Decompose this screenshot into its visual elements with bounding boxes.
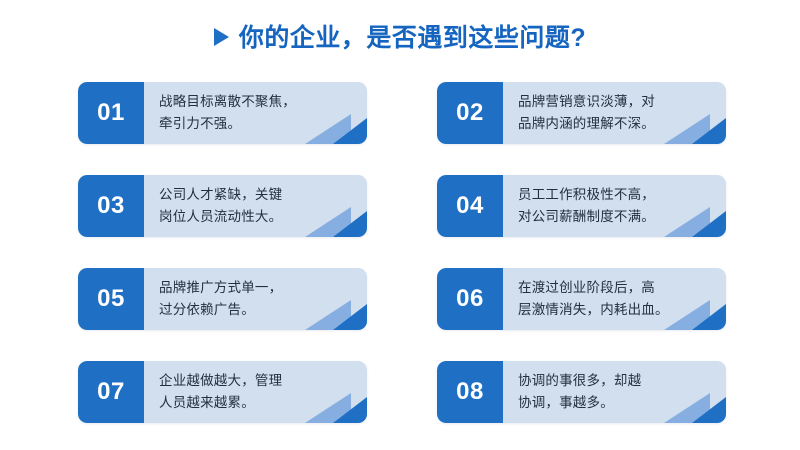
card-text: 品牌营销意识淡薄，对 品牌内涵的理解不深。: [518, 91, 655, 135]
card-body: 员工工作积极性不高， 对公司薪酬制度不满。: [503, 175, 726, 237]
card-number-badge: 03: [78, 175, 144, 237]
problem-card-08[interactable]: 08 协调的事很多，却越 协调，事越多。: [437, 361, 726, 423]
card-text: 员工工作积极性不高， 对公司薪酬制度不满。: [518, 184, 655, 228]
card-text: 协调的事很多，却越 协调，事越多。: [518, 370, 641, 414]
card-body: 协调的事很多，却越 协调，事越多。: [503, 361, 726, 423]
card-text: 公司人才紧缺，关键 岗位人员流动性大。: [159, 184, 282, 228]
problem-card-06[interactable]: 06 在渡过创业阶段后，高 层激情消失，内耗出血。: [437, 268, 726, 330]
arrow-right-triangle-icon: [214, 28, 229, 46]
problem-card-02[interactable]: 02 品牌营销意识淡薄，对 品牌内涵的理解不深。: [437, 82, 726, 144]
card-text: 企业越做越大，管理 人员越来越累。: [159, 370, 282, 414]
problem-card-01[interactable]: 01 战略目标离散不聚焦， 牵引力不强。: [78, 82, 367, 144]
slide-canvas: 你的企业，是否遇到这些问题? 01 战略目标离散不聚焦， 牵引力不强。 02 品…: [0, 0, 800, 450]
page-title-text: 你的企业，是否遇到这些问题?: [239, 18, 586, 54]
page-title: 你的企业，是否遇到这些问题?: [0, 18, 800, 54]
problem-card-03[interactable]: 03 公司人才紧缺，关键 岗位人员流动性大。: [78, 175, 367, 237]
problem-card-07[interactable]: 07 企业越做越大，管理 人员越来越累。: [78, 361, 367, 423]
card-body: 品牌推广方式单一， 过分依赖广告。: [144, 268, 367, 330]
problem-card-05[interactable]: 05 品牌推广方式单一， 过分依赖广告。: [78, 268, 367, 330]
card-body: 战略目标离散不聚焦， 牵引力不强。: [144, 82, 367, 144]
problem-card-grid: 01 战略目标离散不聚焦， 牵引力不强。 02 品牌营销意识淡薄，对 品牌内涵的…: [78, 82, 726, 430]
card-text: 品牌推广方式单一， 过分依赖广告。: [159, 277, 282, 321]
card-number-badge: 08: [437, 361, 503, 423]
card-text: 在渡过创业阶段后，高 层激情消失，内耗出血。: [518, 277, 669, 321]
card-body: 公司人才紧缺，关键 岗位人员流动性大。: [144, 175, 367, 237]
card-number-badge: 06: [437, 268, 503, 330]
card-text: 战略目标离散不聚焦， 牵引力不强。: [159, 91, 296, 135]
card-number-badge: 02: [437, 82, 503, 144]
card-body: 品牌营销意识淡薄，对 品牌内涵的理解不深。: [503, 82, 726, 144]
problem-card-04[interactable]: 04 员工工作积极性不高， 对公司薪酬制度不满。: [437, 175, 726, 237]
card-number-badge: 05: [78, 268, 144, 330]
card-body: 在渡过创业阶段后，高 层激情消失，内耗出血。: [503, 268, 726, 330]
card-number-badge: 07: [78, 361, 144, 423]
card-number-badge: 01: [78, 82, 144, 144]
card-number-badge: 04: [437, 175, 503, 237]
card-body: 企业越做越大，管理 人员越来越累。: [144, 361, 367, 423]
